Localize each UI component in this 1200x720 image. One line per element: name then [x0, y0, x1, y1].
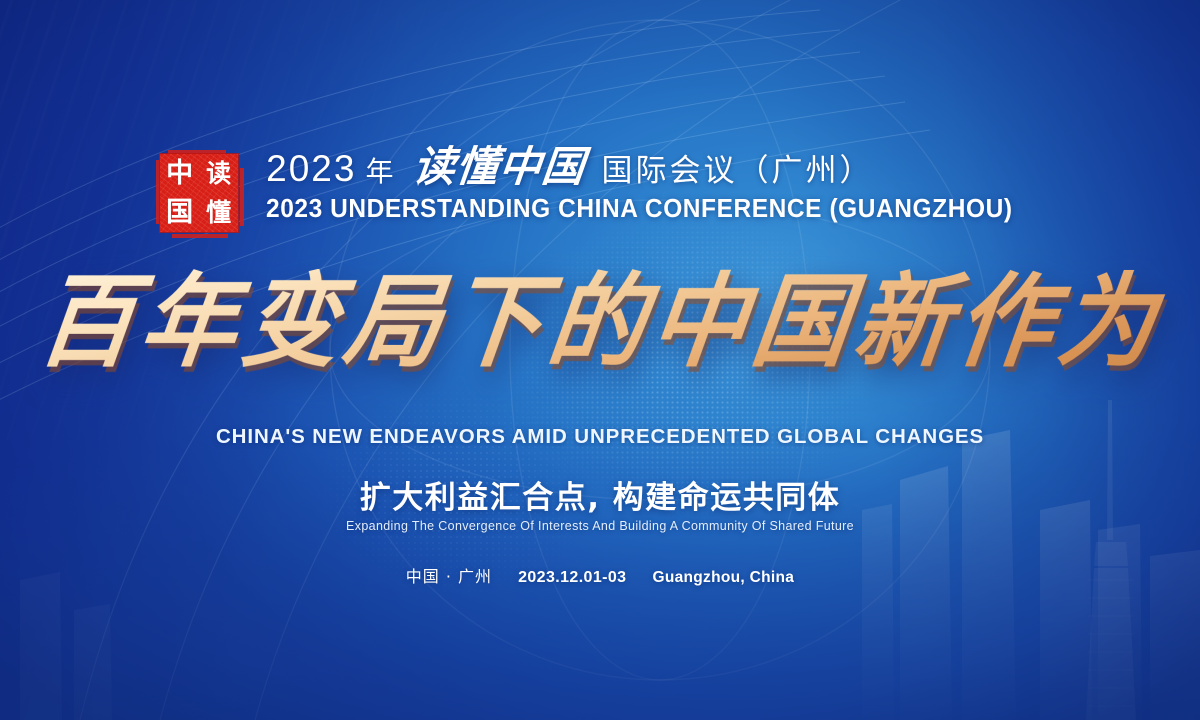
- conference-brush-title: 读懂中国: [411, 146, 587, 188]
- conference-year: 2023: [266, 150, 356, 187]
- understanding-china-seal: 中 读 国 懂: [156, 150, 244, 238]
- headline-english: CHINA'S NEW ENDEAVORS AMID UNPRECEDENTED…: [0, 425, 1200, 449]
- conference-title-en: 2023 UNDERSTANDING CHINA CONFERENCE (GUA…: [266, 195, 1013, 224]
- footer-location-cn: 中国 · 广州: [406, 563, 492, 587]
- conference-title-rest: 国际会议（广州）: [602, 156, 874, 187]
- footer-location-en: Guangzhou, China: [652, 569, 794, 587]
- conference-poster: 中 读 国 懂 2023 年 读懂中国 国际会议（广州） 2023 UNDERS…: [0, 0, 1200, 720]
- title-block: 2023 年 读懂中国 国际会议（广州） 2023 UNDERSTANDING …: [266, 146, 1044, 224]
- seal-char-1: 中: [160, 154, 199, 193]
- theme-english: Expanding The Convergence Of Interests A…: [0, 519, 1200, 533]
- footer-dates: 2023.12.01-03: [518, 569, 626, 587]
- header-row: 中 读 国 懂 2023 年 读懂中国 国际会议（广州） 2023 UNDERS…: [0, 146, 1200, 238]
- theme-chinese: 扩大利益汇合点, 构建命运共同体: [0, 472, 1200, 517]
- footer-info: 中国 · 广州 2023.12.01-03 Guangzhou, China: [0, 563, 1200, 587]
- seal-char-2: 读: [199, 154, 238, 193]
- seal-char-4: 懂: [199, 193, 238, 232]
- conference-year-suffix: 年: [365, 158, 393, 186]
- poster-content: 中 读 国 懂 2023 年 读懂中国 国际会议（广州） 2023 UNDERS…: [0, 0, 1200, 720]
- seal-characters: 中 读 国 懂: [160, 154, 238, 232]
- conference-title-cn: 2023 年 读懂中国 国际会议（广州）: [266, 146, 873, 188]
- headline-calligraphy: 百年变局下的中国新作为: [0, 269, 1200, 376]
- seal-char-3: 国: [160, 193, 199, 232]
